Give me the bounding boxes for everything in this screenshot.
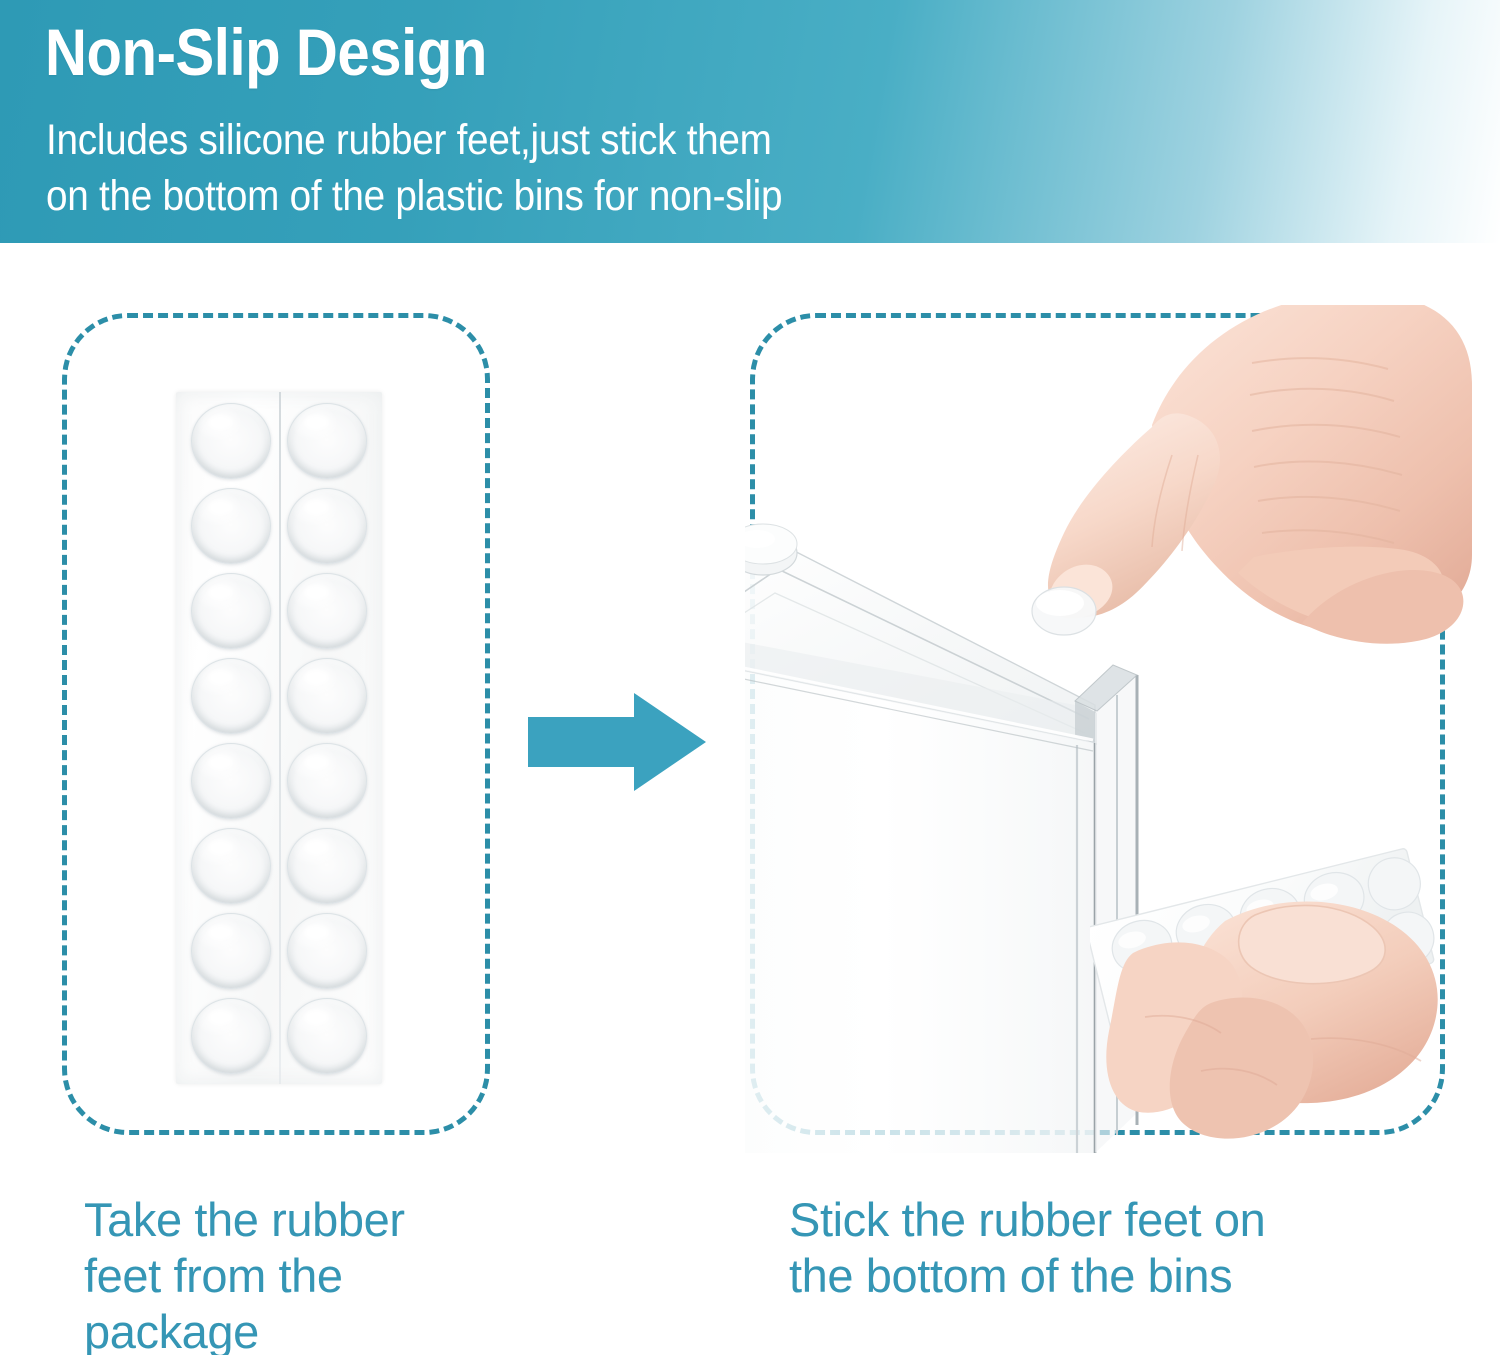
left-caption-line-3: package — [84, 1304, 514, 1355]
right-caption: Stick the rubber feet on the bottom of t… — [789, 1192, 1429, 1304]
hand-pressing-foot — [1002, 305, 1472, 735]
right-caption-line-1: Stick the rubber feet on — [789, 1192, 1429, 1248]
rubber-foot — [183, 483, 279, 568]
rubber-foot — [279, 568, 375, 653]
rubber-foot — [183, 908, 279, 993]
rubber-foot — [183, 653, 279, 738]
rubber-foot — [279, 823, 375, 908]
left-caption-line-2: feet from the — [84, 1248, 514, 1304]
banner-subtitle-line-2: on the bottom of the plastic bins for no… — [46, 168, 782, 224]
left-caption-line-1: Take the rubber — [84, 1192, 514, 1248]
infographic-page: Non-Slip Design Includes silicone rubber… — [0, 0, 1500, 1355]
rubber-foot — [183, 993, 279, 1078]
rubber-foot — [279, 653, 375, 738]
header-banner: Non-Slip Design Includes silicone rubber… — [0, 0, 1500, 243]
right-arrow-icon — [528, 688, 706, 796]
rubber-foot-being-applied — [1032, 587, 1096, 635]
hand-holding-strip — [1105, 803, 1465, 1153]
rubber-foot — [183, 738, 279, 823]
page-title: Non-Slip Design — [45, 14, 487, 90]
right-caption-line-2: the bottom of the bins — [789, 1248, 1429, 1304]
rubber-foot — [279, 738, 375, 823]
rubber-foot — [279, 993, 375, 1078]
rubber-feet-sheet — [176, 392, 382, 1084]
banner-subtitle-line-1: Includes silicone rubber feet,just stick… — [46, 112, 782, 168]
rubber-feet-grid — [176, 392, 382, 1084]
rubber-foot — [279, 398, 375, 483]
rubber-foot — [279, 908, 375, 993]
banner-subtitle: Includes silicone rubber feet,just stick… — [46, 112, 782, 224]
rubber-foot — [279, 483, 375, 568]
left-caption: Take the rubber feet from the package — [84, 1192, 514, 1355]
rubber-foot — [183, 568, 279, 653]
attached-rubber-foot — [745, 524, 797, 575]
apply-feet-scene — [750, 313, 1450, 1143]
rubber-foot — [183, 823, 279, 908]
rubber-foot — [183, 398, 279, 483]
